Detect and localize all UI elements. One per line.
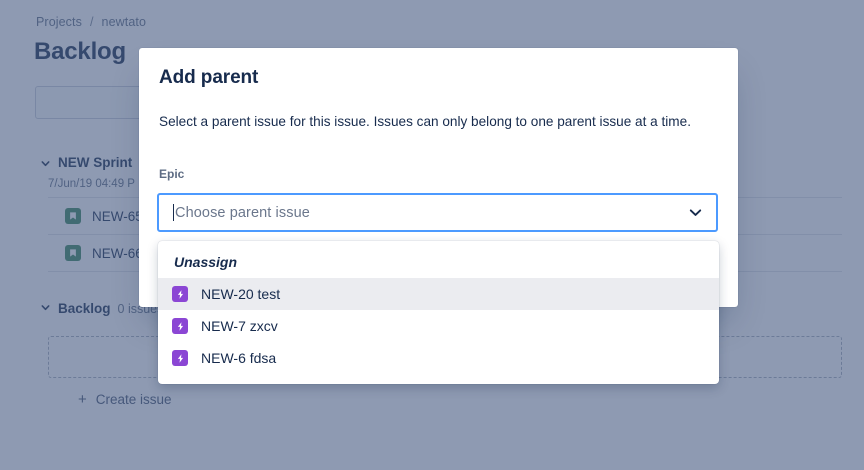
text-caret — [173, 204, 174, 221]
dialog-description: Select a parent issue for this issue. Is… — [159, 112, 693, 132]
dropdown-option-label: NEW-20 test — [201, 286, 280, 302]
dropdown-group-label[interactable]: Unassign — [158, 245, 719, 278]
dropdown-option-label: NEW-7 zxcv — [201, 318, 278, 334]
dialog-title: Add parent — [159, 67, 258, 89]
chevron-down-icon[interactable] — [687, 204, 704, 221]
app-root: Projects / newtato Backlog NEW Sprint 7/… — [0, 0, 864, 470]
parent-issue-dropdown: Unassign NEW-20 test NEW-7 zxcv NEW-6 fd… — [158, 241, 719, 384]
epic-field-label: Epic — [159, 167, 184, 181]
dropdown-option-new-7[interactable]: NEW-7 zxcv — [158, 310, 719, 342]
epic-icon — [172, 350, 188, 366]
epic-icon — [172, 318, 188, 334]
parent-issue-select[interactable]: Choose parent issue — [157, 193, 718, 232]
epic-icon — [172, 286, 188, 302]
dropdown-option-new-20[interactable]: NEW-20 test — [158, 278, 719, 310]
dropdown-option-new-6[interactable]: NEW-6 fdsa — [158, 342, 719, 374]
parent-issue-placeholder: Choose parent issue — [175, 205, 687, 221]
dropdown-option-label: NEW-6 fdsa — [201, 350, 276, 366]
